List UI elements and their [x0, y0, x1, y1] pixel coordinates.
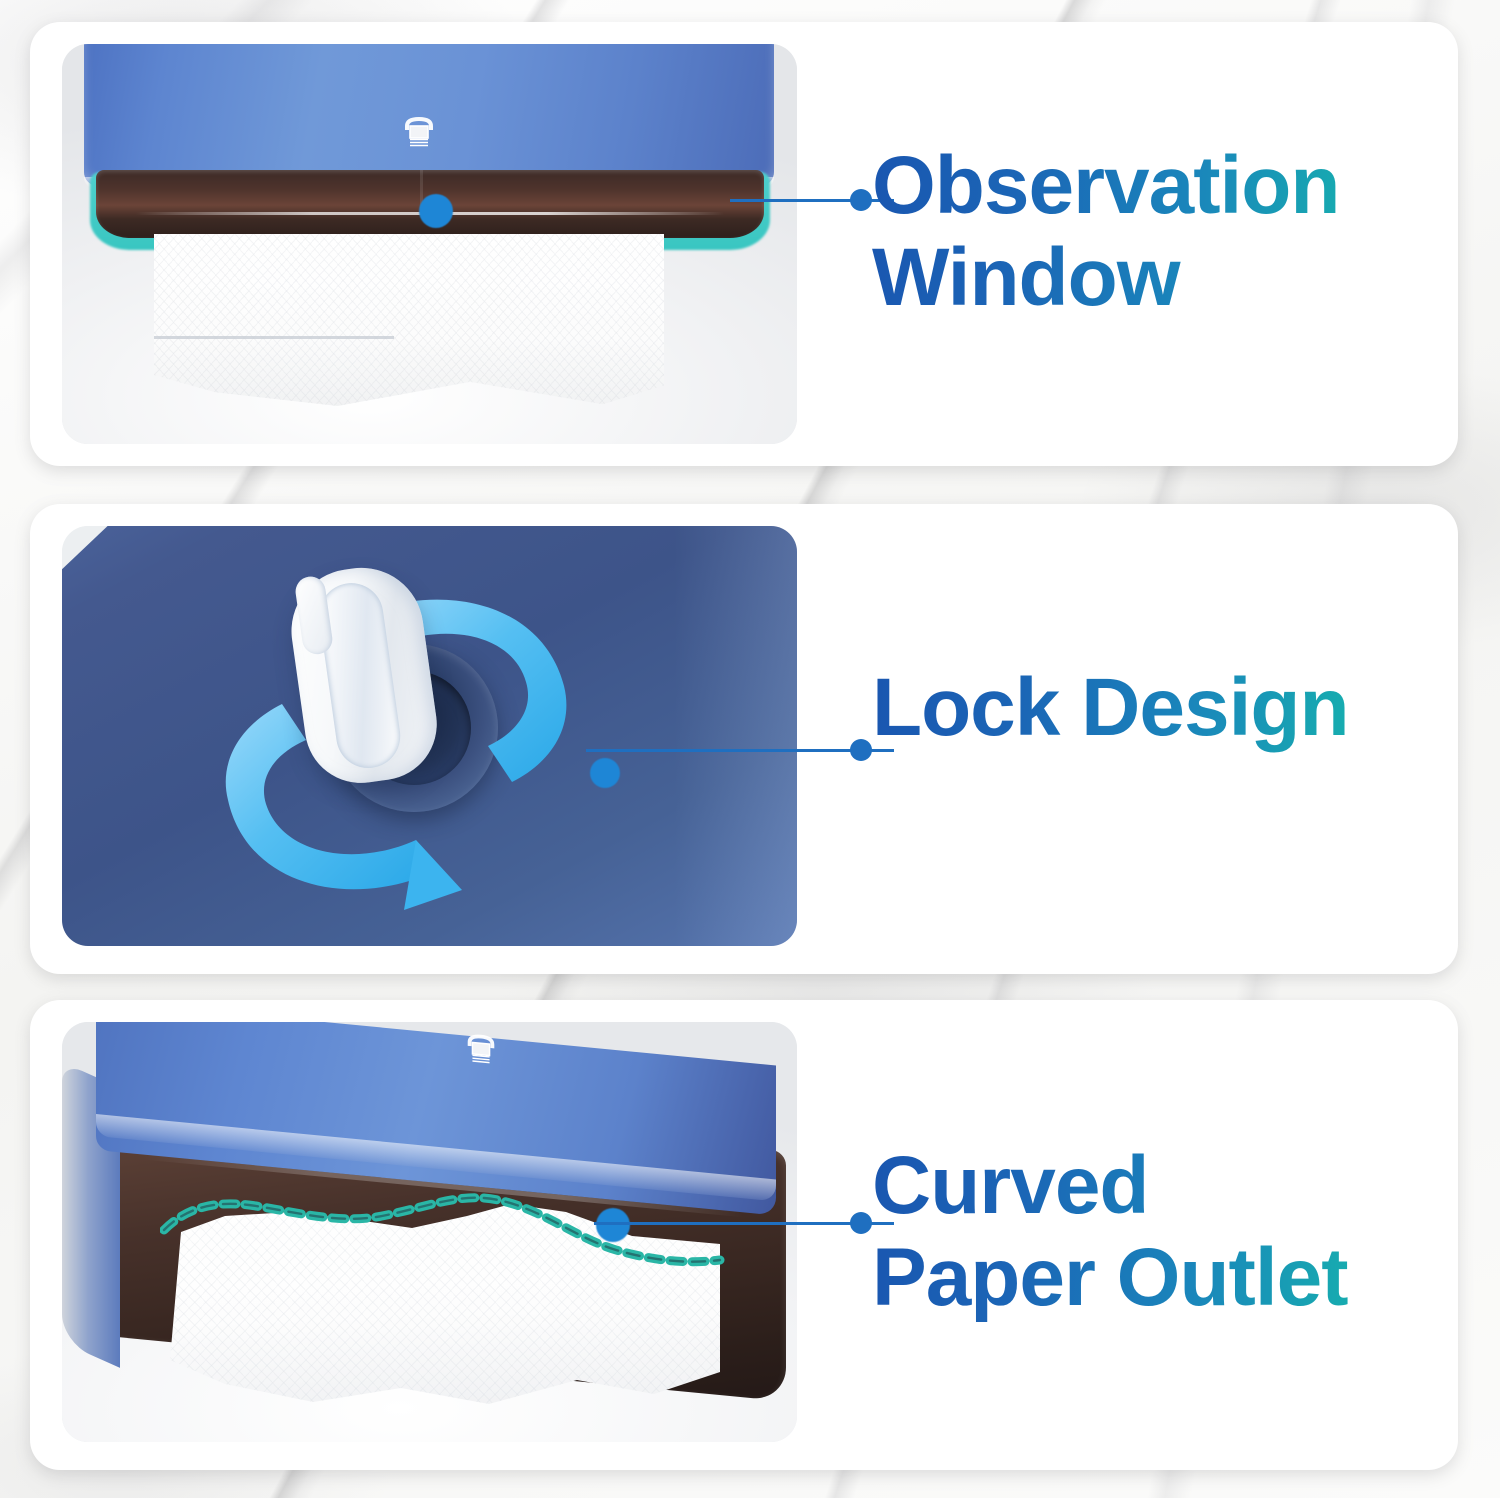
product-photo-observation-window — [62, 44, 797, 444]
callout-label-lock-design: Lock Design — [872, 662, 1452, 754]
callout-label-curved-paper-outlet: Curved Paper Outlet — [872, 1140, 1462, 1324]
paper-towel — [154, 234, 664, 406]
callout-endpoint-dot — [850, 1212, 872, 1234]
callout-leader-line — [586, 749, 894, 752]
callout-leader-line — [594, 1222, 894, 1225]
callout-anchor-dot — [596, 1208, 630, 1242]
paper-dispense-icon — [395, 112, 443, 152]
callout-anchor-dot — [590, 758, 620, 788]
infographic-page: Observation Window — [0, 0, 1500, 1498]
curved-outlet-dashed-highlight — [160, 1190, 760, 1300]
paper-towel-fold-line — [154, 336, 394, 339]
paper-dispense-icon — [458, 1028, 504, 1070]
callout-label-observation-window: Observation Window — [872, 140, 1452, 324]
callout-anchor-dot — [419, 194, 453, 228]
product-photo-lock-design — [62, 526, 797, 946]
callout-endpoint-dot — [850, 189, 872, 211]
callout-endpoint-dot — [850, 739, 872, 761]
product-photo-curved-paper-outlet — [62, 1022, 797, 1442]
